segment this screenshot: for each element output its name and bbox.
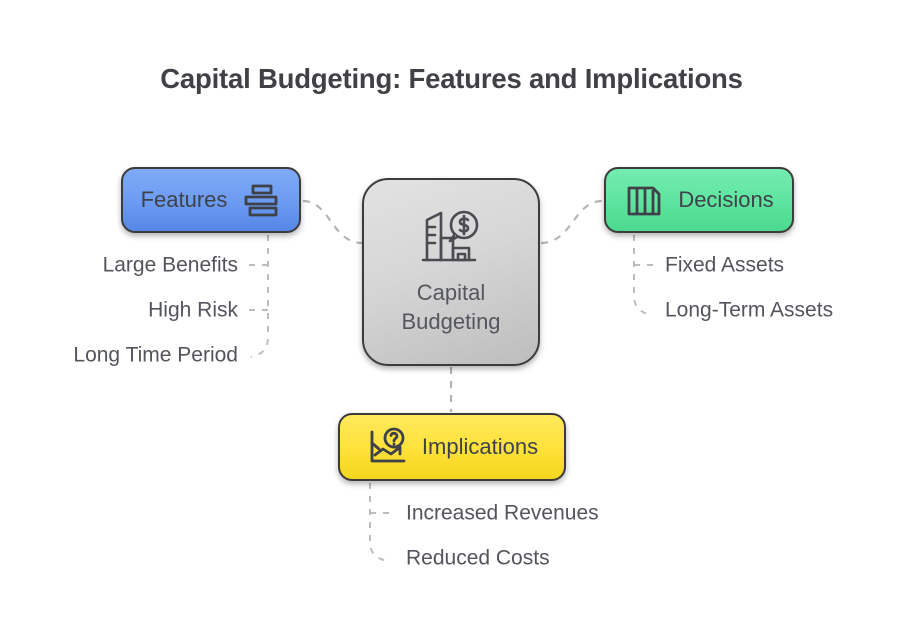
connector-implications-trunk [370, 483, 387, 561]
node-center-label-line2: Budgeting [401, 307, 500, 336]
page-title: Capital Budgeting: Features and Implicat… [0, 63, 903, 95]
leaf-decisions-long-term-assets: Long-Term Assets [665, 300, 833, 321]
chart-question-icon [366, 427, 408, 467]
leaf-decisions-fixed-assets: Fixed Assets [665, 255, 784, 276]
node-implications-label: Implications [422, 434, 538, 460]
node-decisions-label: Decisions [678, 187, 773, 213]
buildings-dollar-icon [419, 208, 483, 266]
connector-center-to-decisions [541, 201, 602, 243]
node-implications[interactable]: Implications [338, 413, 566, 481]
leaf-features-large-benefits: Large Benefits [103, 255, 238, 276]
node-center-label-line1: Capital [417, 278, 485, 307]
node-features[interactable]: Features [121, 167, 301, 233]
leaf-implications-reduced-costs: Reduced Costs [406, 548, 550, 569]
leaf-features-long-time-period: Long Time Period [73, 345, 238, 366]
building-columns-icon [624, 180, 664, 220]
stacked-bars-icon [241, 180, 281, 220]
leaf-features-high-risk: High Risk [148, 300, 238, 321]
leaf-implications-increased-revenues: Increased Revenues [406, 503, 599, 524]
connector-features-to-center [303, 201, 362, 243]
connector-features-trunk [251, 235, 268, 357]
diagram-canvas: Capital Budgeting: Features and Implicat… [0, 0, 903, 632]
buildings-dollar-icon-wrap [419, 208, 483, 266]
node-decisions[interactable]: Decisions [604, 167, 794, 233]
node-capital-budgeting[interactable]: Capital Budgeting [362, 178, 540, 366]
node-features-label: Features [141, 187, 228, 213]
connector-decisions-trunk [634, 235, 651, 315]
